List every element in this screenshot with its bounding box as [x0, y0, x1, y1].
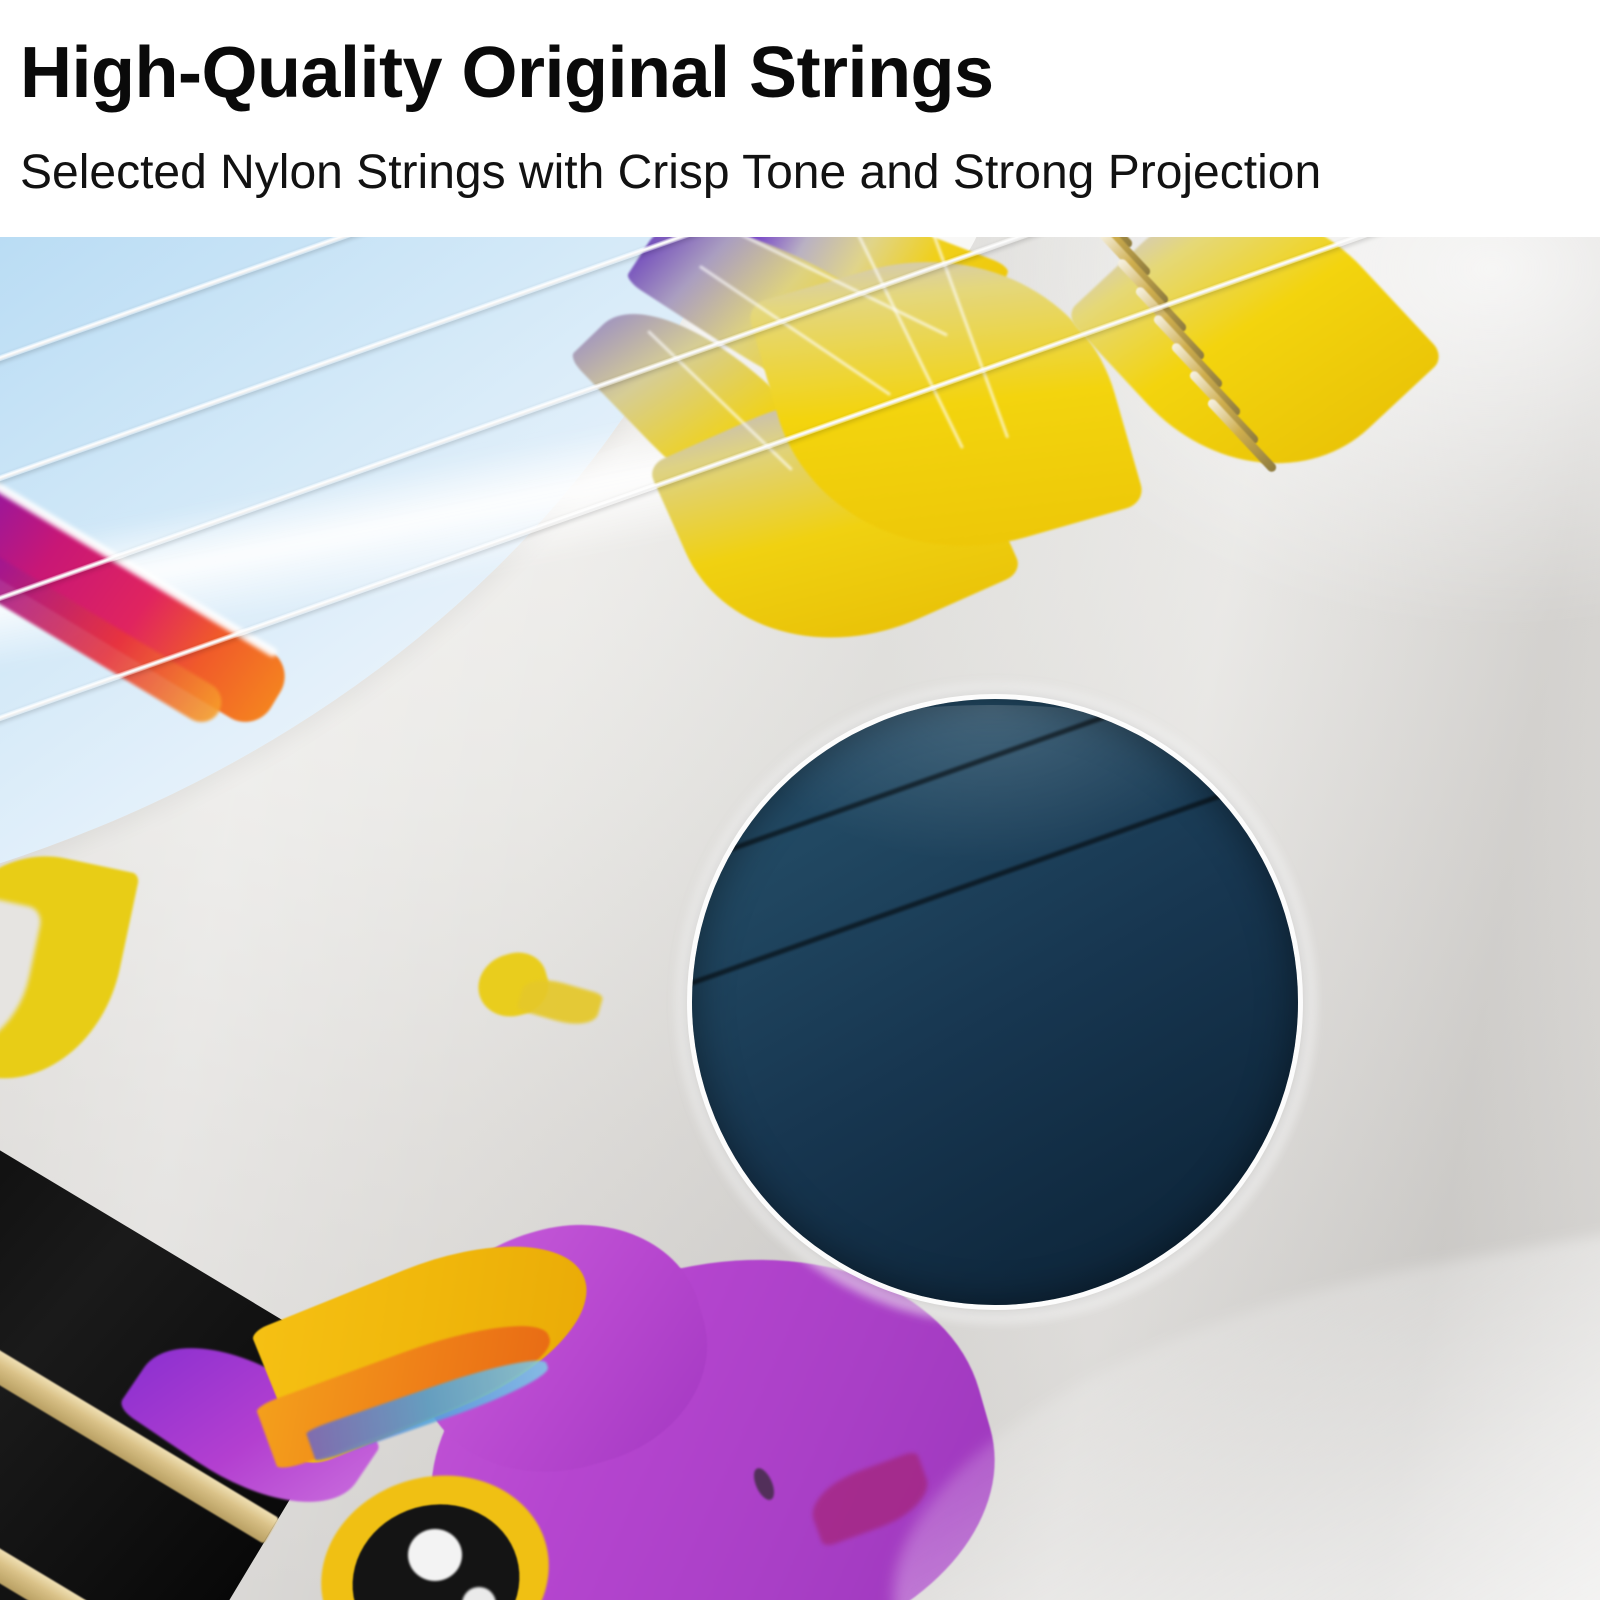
product-feature-card: High-Quality Original Strings Selected N…	[0, 0, 1600, 1600]
page-title: High-Quality Original Strings	[20, 33, 994, 113]
header-text-block: High-Quality Original Strings Selected N…	[0, 0, 1600, 237]
parrot-eye-highlight	[408, 1529, 462, 1581]
sound-hole-highlight	[732, 705, 1252, 865]
product-photo	[0, 237, 1600, 1600]
palm-frond-comb-blade	[1065, 237, 1446, 527]
palm-frond-cluster	[560, 237, 1120, 729]
page-subtitle: Selected Nylon Strings with Crisp Tone a…	[20, 143, 1321, 203]
sound-hole	[692, 699, 1298, 1305]
